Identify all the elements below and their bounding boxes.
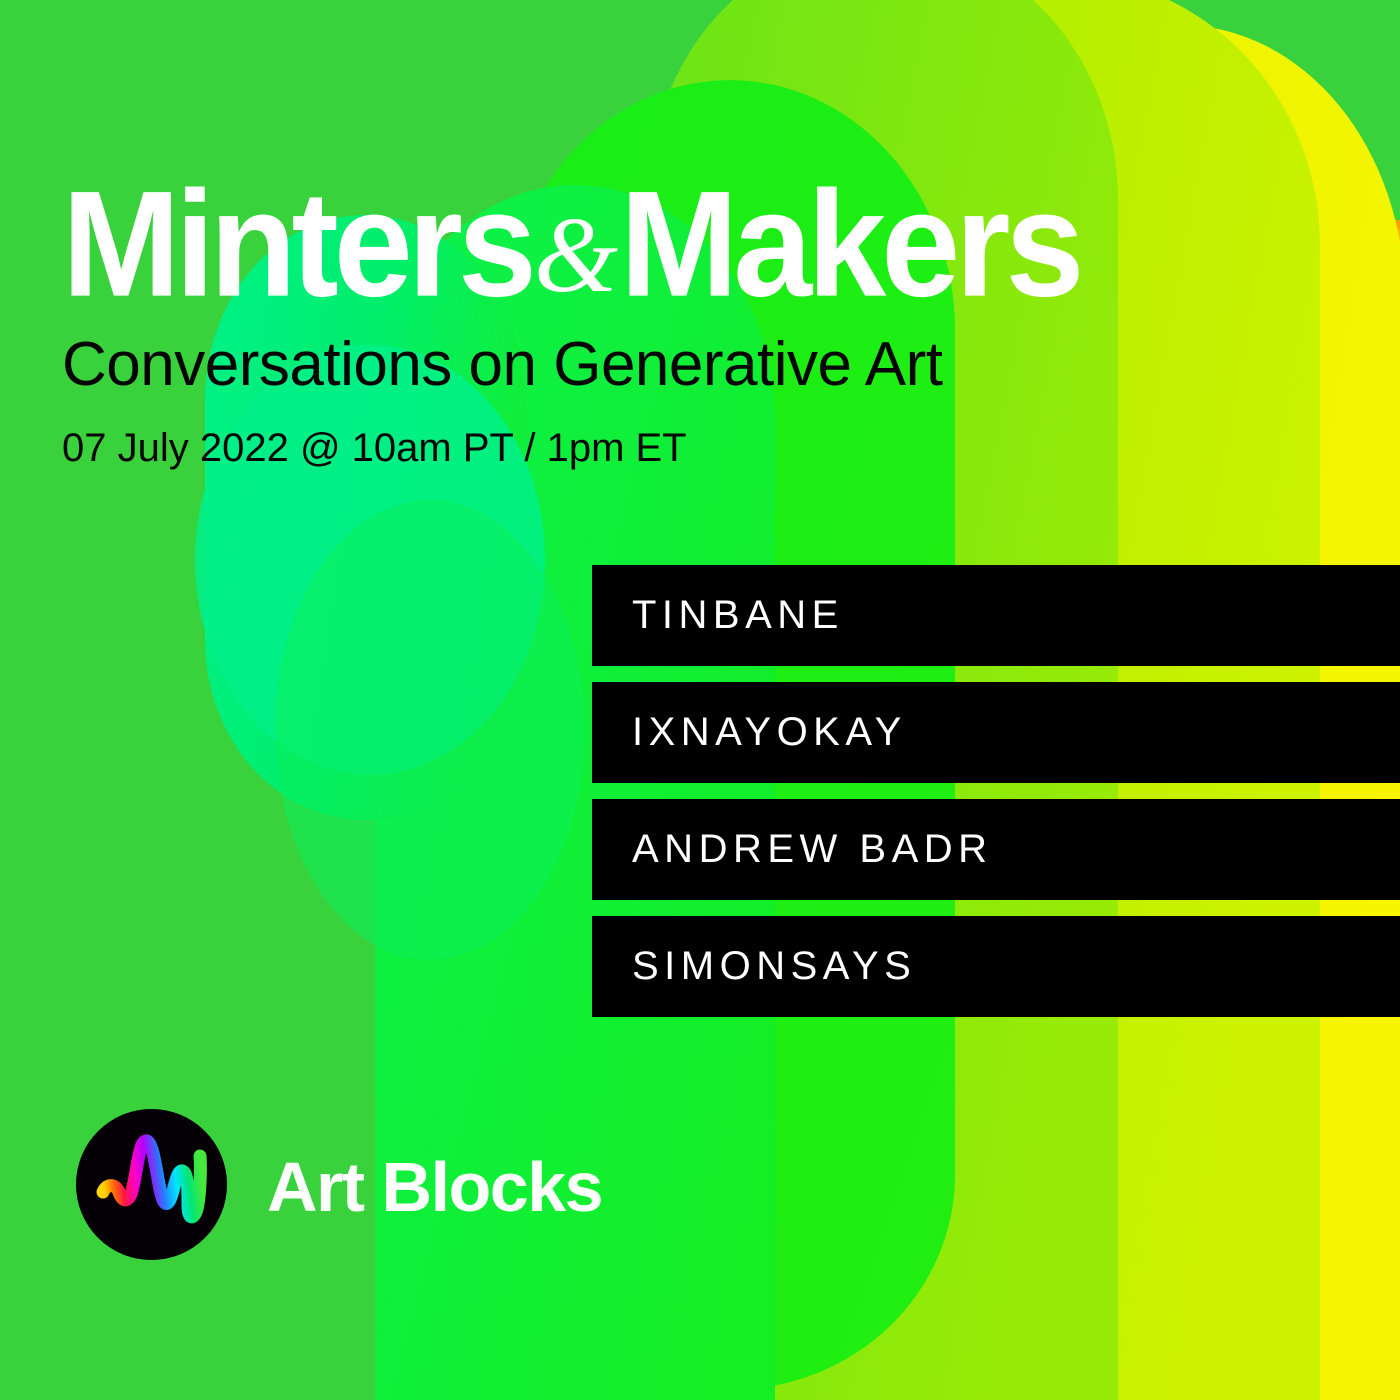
poster-datetime: 07 July 2022 @ 10am PT / 1pm ET — [62, 428, 1079, 468]
speaker-list: TINBANE IXNAYOKAY ANDREW BADR SIMONSAYS — [592, 565, 1400, 1017]
speaker-name: TINBANE — [592, 593, 844, 638]
speaker-bar[interactable]: TINBANE — [592, 565, 1400, 666]
artblocks-waveform-icon — [76, 1109, 227, 1260]
title-word-makers: Makers — [620, 169, 1079, 320]
speaker-name: IXNAYOKAY — [592, 710, 907, 755]
speaker-bar[interactable]: SIMONSAYS — [592, 916, 1400, 1017]
speaker-bar[interactable]: IXNAYOKAY — [592, 682, 1400, 783]
event-poster: Minters & Makers Conversations on Genera… — [0, 0, 1400, 1400]
speaker-name: SIMONSAYS — [592, 944, 916, 989]
title-word-minters: Minters — [62, 169, 532, 320]
poster-title: Minters & Makers — [62, 178, 1079, 310]
brand-name: Art Blocks — [267, 1152, 602, 1222]
title-ampersand: & — [532, 202, 620, 310]
poster-headline: Minters & Makers Conversations on Genera… — [62, 178, 1079, 468]
speaker-name: ANDREW BADR — [592, 827, 993, 872]
poster-subtitle: Conversations on Generative Art — [62, 334, 1079, 396]
speaker-bar[interactable]: ANDREW BADR — [592, 799, 1400, 900]
brand-footer: Art Blocks — [76, 1109, 602, 1260]
